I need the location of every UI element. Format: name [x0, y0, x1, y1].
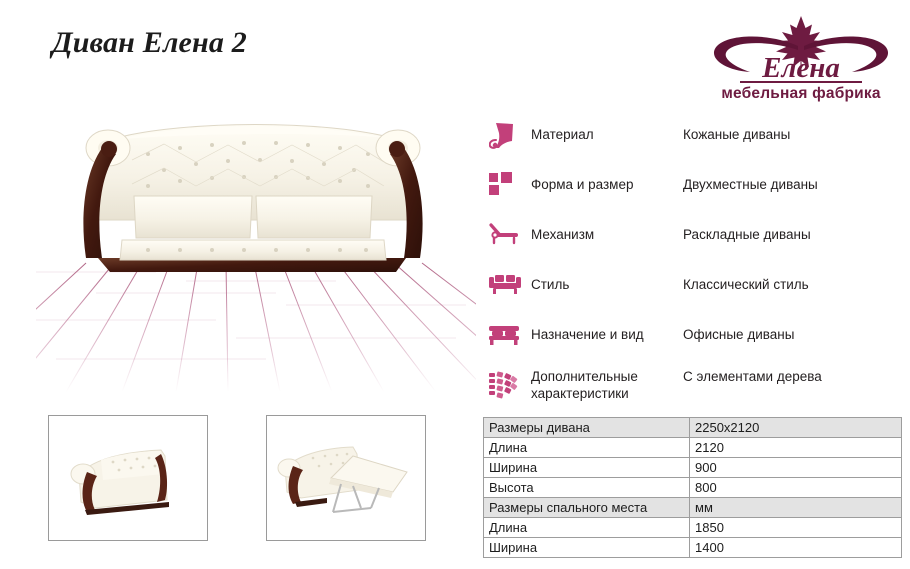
table-cell-key: Длина: [484, 438, 690, 458]
dimensions-table: Размеры дивана 2250х2120 Длина 2120 Шири…: [483, 417, 902, 558]
spec-value: Кожаные диваны: [683, 126, 790, 143]
spec-row-style: Стиль Классический стиль: [489, 260, 899, 310]
table-cell-value: мм: [690, 498, 902, 518]
spec-value: Классический стиль: [683, 276, 809, 293]
table-cell-key: Ширина: [484, 458, 690, 478]
logo-divider: [740, 81, 862, 83]
spec-value: Двухместные диваны: [683, 176, 818, 193]
table-cell-value: 1850: [690, 518, 902, 538]
spec-value: Раскладные диваны: [683, 226, 811, 243]
table-row: Высота 800: [484, 478, 902, 498]
table-cell-value: 1400: [690, 538, 902, 558]
spec-value: С элементами дерева: [683, 368, 822, 385]
table-cell-key: Размеры спального места: [484, 498, 690, 518]
spec-row-additional: Дополнительные характеристики С элемента…: [489, 360, 899, 420]
sofa-icon: [489, 268, 531, 302]
table-row: Размеры спального места мм: [484, 498, 902, 518]
table-row: Длина 2120: [484, 438, 902, 458]
company-logo: Елена мебельная фабрика: [708, 12, 894, 104]
spec-label: Стиль: [531, 276, 683, 293]
swatch-fan-icon: [489, 368, 531, 402]
logo-tagline-text: мебельная фабрика: [721, 85, 880, 102]
spec-label: Дополнительные характеристики: [531, 368, 683, 403]
table-cell-value: 2250х2120: [690, 418, 902, 438]
table-cell-key: Длина: [484, 518, 690, 538]
table-row: Размеры дивана 2250х2120: [484, 418, 902, 438]
table-cell-key: Размеры дивана: [484, 418, 690, 438]
spec-row-material: Материал Кожаные диваны: [489, 110, 899, 160]
spec-label: Механизм: [531, 226, 683, 243]
spec-list: Материал Кожаные диваны Форма и размер Д…: [489, 110, 899, 420]
table-row: Длина 1850: [484, 518, 902, 538]
spec-label: Материал: [531, 126, 683, 143]
page-title: Диван Елена 2: [52, 26, 247, 60]
spec-value: Офисные диваны: [683, 326, 794, 343]
table-cell-value: 900: [690, 458, 902, 478]
shape-size-icon: [489, 168, 531, 202]
spec-row-shape-size: Форма и размер Двухместные диваны: [489, 160, 899, 210]
logo-brand-text: Елена: [761, 52, 840, 84]
bed-icon: [489, 318, 531, 352]
table-cell-value: 2120: [690, 438, 902, 458]
spec-row-mechanism: Механизм Раскладные диваны: [489, 210, 899, 260]
table-row: Ширина 1400: [484, 538, 902, 558]
table-row: Ширина 900: [484, 458, 902, 478]
recliner-icon: [489, 218, 531, 252]
spec-label: Назначение и вид: [531, 326, 683, 343]
sofa-illustration: [83, 125, 422, 273]
table-cell-key: Высота: [484, 478, 690, 498]
spec-label: Форма и размер: [531, 176, 683, 193]
table-cell-value: 800: [690, 478, 902, 498]
floor-grid: [36, 263, 476, 392]
spec-row-purpose: Назначение и вид Офисные диваны: [489, 310, 899, 360]
thumbnail-sofa-unfolded[interactable]: [266, 415, 426, 541]
fabric-roll-icon: [489, 118, 531, 152]
thumbnail-sofa-angle[interactable]: [48, 415, 208, 541]
product-hero-image: [36, 100, 476, 392]
table-cell-key: Ширина: [484, 538, 690, 558]
thumbnail-strip: [48, 415, 468, 551]
